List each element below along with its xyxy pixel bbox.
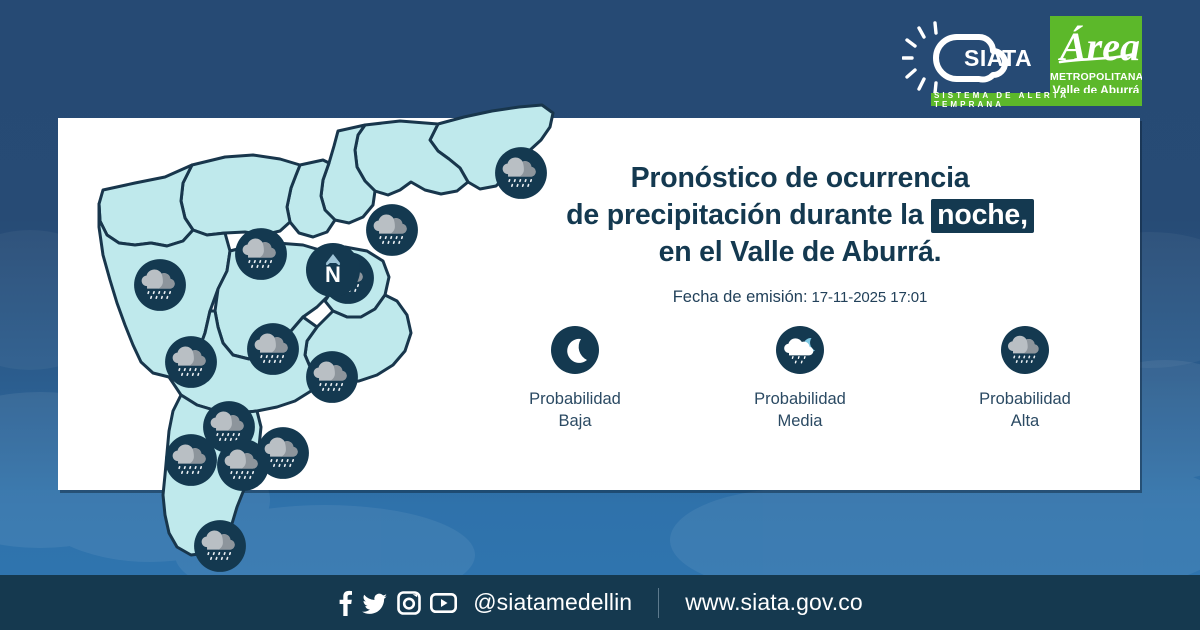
- map-marker-itagui[interactable]: [165, 434, 217, 486]
- issue-date-label: Fecha de emisión:: [673, 288, 808, 306]
- map-marker-san-pedro[interactable]: [134, 259, 186, 311]
- area-metropolitana-logo: Área METROPOLITANA Valle de Aburrá: [1050, 16, 1142, 101]
- page-title: Pronóstico de ocurrencia de precipitació…: [470, 160, 1130, 271]
- facebook-icon[interactable]: [337, 590, 353, 616]
- map-marker-la-estrella[interactable]: [257, 427, 309, 479]
- footer-divider: [658, 588, 659, 618]
- north-arrow-icon: N: [306, 243, 360, 297]
- issue-date-value: 17-11-2025 17:01: [812, 289, 928, 306]
- footer-website[interactable]: www.siata.gov.co: [685, 589, 863, 616]
- title-line-2-text: de precipitación durante la: [566, 199, 923, 231]
- title-highlight-noche: noche,: [931, 199, 1034, 233]
- legend-item-media: Probabilidad Media: [715, 325, 885, 433]
- legend-baja-line2: Baja: [490, 411, 660, 433]
- social-icons: [337, 590, 457, 616]
- title-line-1: Pronóstico de ocurrencia: [470, 160, 1130, 197]
- map-container: N: [55, 55, 575, 575]
- map-marker-medellin[interactable]: [306, 351, 358, 403]
- probability-legend: Probabilidad Baja Probabilidad Media: [490, 325, 1110, 433]
- legend-baja-line1: Probabilidad: [490, 389, 660, 411]
- siata-tagline-strip: SISTEMA DE ALERTA TEMPRANA: [931, 93, 1142, 106]
- youtube-icon[interactable]: [430, 593, 457, 613]
- twitter-icon[interactable]: [362, 590, 388, 616]
- svg-text:Área: Área: [1057, 24, 1140, 69]
- legend-item-baja: Probabilidad Baja: [490, 325, 660, 433]
- cloud-heavy-rain-icon: [1000, 325, 1050, 375]
- footer-content: @siatamedellin www.siata.gov.co: [0, 575, 1200, 630]
- legend-media-line1: Probabilidad: [715, 389, 885, 411]
- moon-icon: [550, 325, 600, 375]
- map-marker-bello[interactable]: [247, 323, 299, 375]
- title-line-2: de precipitación durante la noche,: [470, 197, 1130, 234]
- legend-alta-line2: Alta: [940, 411, 1110, 433]
- cloud-moon-rain-icon: [775, 325, 825, 375]
- area-script-icon: Área: [1054, 18, 1140, 74]
- legend-label-baja: Probabilidad Baja: [490, 389, 660, 433]
- legend-item-alta: Probabilidad Alta: [940, 325, 1110, 433]
- legend-alta-line1: Probabilidad: [940, 389, 1110, 411]
- title-line-3: en el Valle de Aburrá.: [470, 234, 1130, 271]
- infographic-root: N Pronóstico de ocurrencia de precipitac…: [0, 0, 1200, 630]
- map-marker-caldas[interactable]: [194, 520, 246, 572]
- instagram-icon[interactable]: [397, 591, 421, 615]
- legend-label-alta: Probabilidad Alta: [940, 389, 1110, 433]
- siata-logo: SIATA: [902, 20, 1042, 100]
- svg-text:SIATA: SIATA: [964, 45, 1032, 71]
- forecast-text-block: Pronóstico de ocurrencia de precipitació…: [470, 160, 1130, 307]
- legend-media-line2: Media: [715, 411, 885, 433]
- map-marker-medellin-oeste[interactable]: [165, 336, 217, 388]
- map-marker-bello-norte[interactable]: [235, 228, 287, 280]
- svg-text:N: N: [325, 262, 341, 287]
- social-handle[interactable]: @siatamedellin: [473, 589, 632, 616]
- legend-label-media: Probabilidad Media: [715, 389, 885, 433]
- map-marker-girardota[interactable]: [366, 204, 418, 256]
- area-logo-line1: METROPOLITANA: [1050, 71, 1142, 83]
- issue-date: Fecha de emisión:17-11-2025 17:01: [470, 288, 1130, 307]
